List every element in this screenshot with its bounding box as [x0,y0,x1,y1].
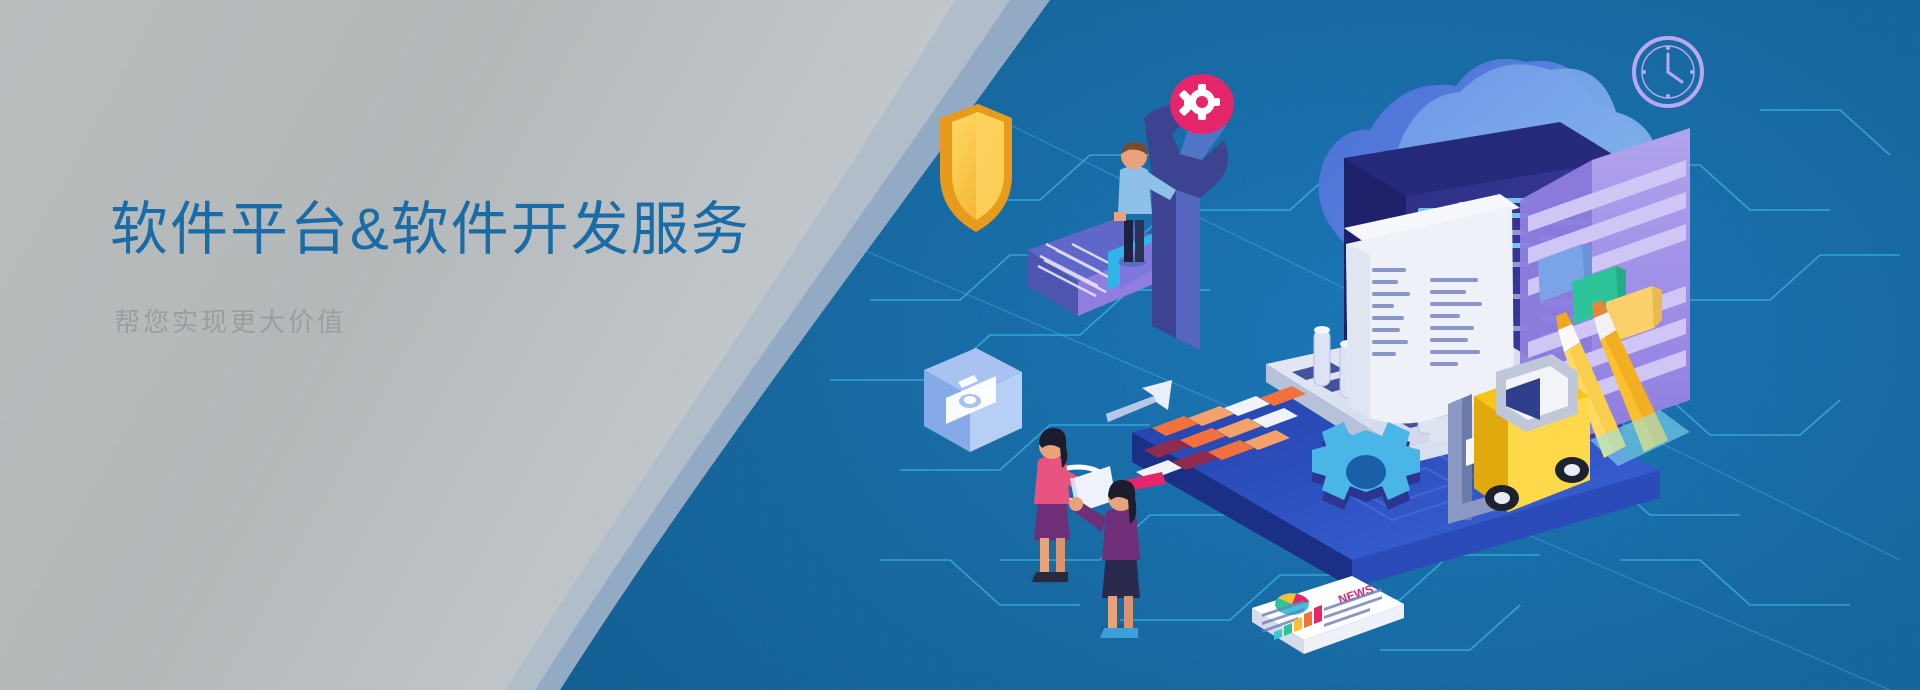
page-subtitle: 帮您实现更大价值 [114,302,751,339]
wrench-icon [1144,105,1228,350]
clock-icon [1634,38,1702,106]
gear-large-icon [1312,422,1420,510]
shield-icon [940,104,1012,232]
gear-badge-icon [1170,74,1234,134]
solar-panel-icon [1028,218,1168,316]
banner-copy: 软件平台&软件开发服务 帮您实现更大价值 [110,196,751,339]
page-title: 软件平台&软件开发服务 [110,196,751,264]
hero-banner: 软件平台&软件开发服务 帮您实现更大价值 [0,0,1920,690]
camera-icon [924,348,1022,452]
news-document: NEWS [1252,576,1404,654]
illustration: NEWS [900,0,1920,690]
arrow-up-icon [1106,380,1172,422]
